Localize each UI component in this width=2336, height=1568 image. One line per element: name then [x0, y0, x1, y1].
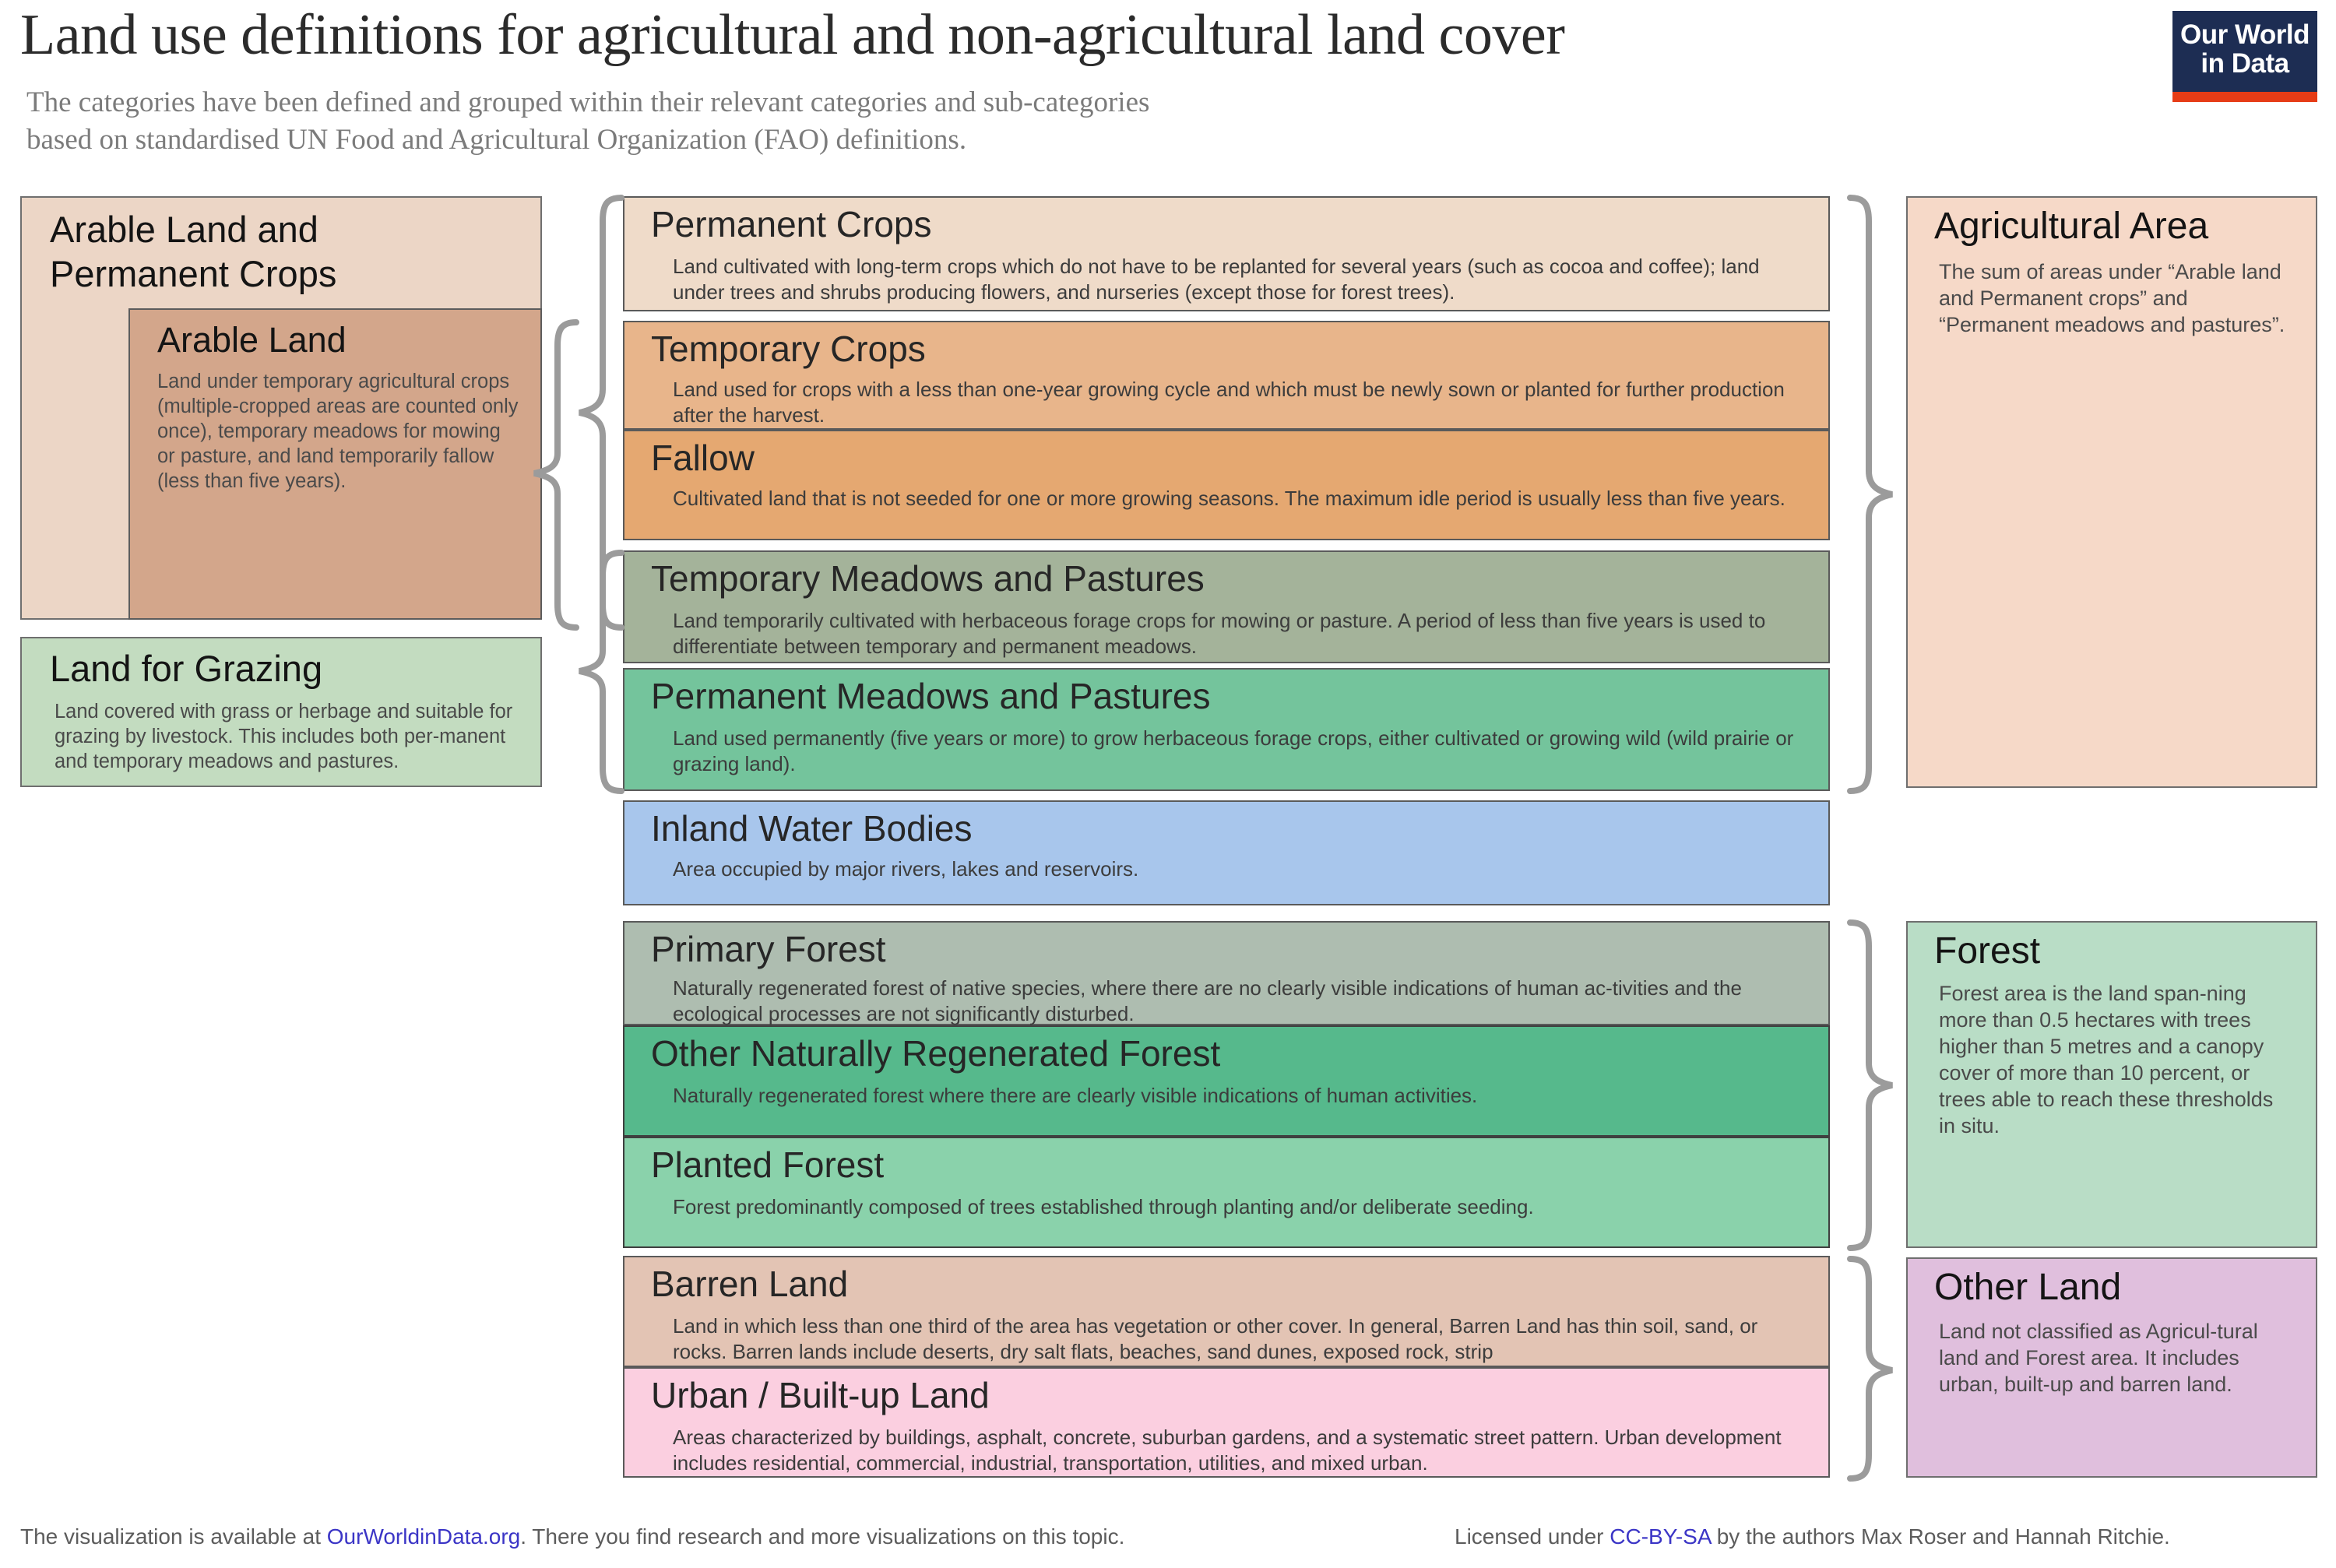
box-desc-temporary-meadows-and-pastures: Land temporarily cultivated with herbace… [673, 608, 1810, 659]
our-world-in-data-logo[interactable]: Our World in Data [2172, 11, 2317, 92]
box-other-land: Other Land Land not classified as Agricu… [1906, 1257, 2317, 1478]
page-title: Land use definitions for agricultural an… [20, 2, 1564, 69]
owid-link[interactable]: OurWorldinData.org [327, 1524, 520, 1549]
logo-line-2: in Data [2172, 49, 2317, 78]
box-title-fallow: Fallow [651, 436, 755, 480]
page-subtitle: The categories have been defined and gro… [26, 84, 1149, 159]
logo-line-1: Our World [2172, 20, 2317, 49]
box-agricultural-area: Agricultural Area The sum of areas under… [1906, 196, 2317, 788]
box-planted-forest: Planted Forest Forest predominantly comp… [623, 1137, 1830, 1248]
box-desc-planted-forest: Forest predominantly composed of trees e… [673, 1194, 1810, 1220]
brace-land-for-grazing [576, 550, 624, 794]
box-title-temporary-meadows-and-pastures: Temporary Meadows and Pastures [651, 557, 1205, 600]
page-subtitle-line-2: based on standardised UN Food and Agricu… [26, 121, 1149, 159]
box-land-for-grazing: Land for Grazing Land covered with grass… [20, 637, 542, 787]
box-temporary-meadows-and-pastures: Temporary Meadows and Pastures Land temp… [623, 550, 1830, 663]
box-arable-land: Arable Land Land under temporary agricul… [128, 308, 542, 620]
box-desc-fallow: Cultivated land that is not seeded for o… [673, 486, 1810, 512]
brace-agricultural-area [1845, 195, 1897, 794]
box-desc-barren-land: Land in which less than one third of the… [673, 1313, 1810, 1365]
box-title-inland-water-bodies: Inland Water Bodies [651, 807, 973, 850]
box-title-temporary-crops: Temporary Crops [651, 327, 926, 371]
box-desc-agricultural-area: The sum of areas under “Arable land and … [1939, 258, 2293, 338]
footer-right-post: by the authors Max Roser and Hannah Ritc… [1711, 1524, 2170, 1549]
box-title-other-naturally-regenerated-forest: Other Naturally Regenerated Forest [651, 1032, 1220, 1075]
logo-text: Our World in Data [2172, 11, 2317, 78]
box-title-urban-built-up-land: Urban / Built-up Land [651, 1373, 990, 1417]
box-desc-inland-water-bodies: Area occupied by major rivers, lakes and… [673, 856, 1810, 882]
box-other-naturally-regenerated-forest: Other Naturally Regenerated Forest Natur… [623, 1025, 1830, 1137]
footer-right: Licensed under CC-BY-SA by the authors M… [1455, 1522, 2170, 1552]
box-title-permanent-crops: Permanent Crops [651, 202, 932, 246]
box-desc-urban-built-up-land: Areas characterized by buildings, asphal… [673, 1425, 1810, 1476]
box-desc-land-for-grazing: Land covered with grass or herbage and s… [55, 699, 522, 774]
footer-left: The visualization is available at OurWor… [20, 1522, 1124, 1552]
box-desc-temporary-crops: Land used for crops with a less than one… [673, 377, 1810, 428]
footer-left-post: . There you find research and more visua… [520, 1524, 1124, 1549]
page-footer: The visualization is available at OurWor… [0, 1522, 2336, 1568]
box-fallow: Fallow Cultivated land that is not seede… [623, 430, 1830, 540]
box-title-arable-land: Arable Land [157, 321, 347, 360]
brace-arable-land [531, 319, 579, 631]
box-title-barren-land: Barren Land [651, 1262, 848, 1306]
box-title-arable-and-permanent-crops: Arable Land and Permanent Crops [50, 207, 517, 296]
box-primary-forest: Primary Forest Naturally regenerated for… [623, 921, 1830, 1025]
box-desc-arable-land: Land under temporary agricultural crops … [157, 369, 523, 494]
box-desc-other-naturally-regenerated-forest: Naturally regenerated forest where there… [673, 1083, 1810, 1109]
box-permanent-crops: Permanent Crops Land cultivated with lon… [623, 196, 1830, 311]
box-title-permanent-meadows-and-pastures: Permanent Meadows and Pastures [651, 674, 1211, 718]
box-inland-water-bodies: Inland Water Bodies Area occupied by maj… [623, 800, 1830, 905]
box-title-planted-forest: Planted Forest [651, 1143, 884, 1187]
brace-other-land [1845, 1256, 1897, 1482]
box-title-forest: Forest [1934, 929, 2040, 974]
box-desc-permanent-meadows-and-pastures: Land used permanently (five years or mor… [673, 726, 1810, 777]
box-title-land-for-grazing: Land for Grazing [50, 648, 322, 690]
box-desc-primary-forest: Naturally regenerated forest of native s… [673, 976, 1810, 1027]
box-temporary-crops: Temporary Crops Land used for crops with… [623, 321, 1830, 430]
box-desc-permanent-crops: Land cultivated with long-term crops whi… [673, 254, 1810, 305]
box-barren-land: Barren Land Land in which less than one … [623, 1256, 1830, 1367]
box-title-other-land: Other Land [1934, 1265, 2121, 1310]
box-permanent-meadows-and-pastures: Permanent Meadows and Pastures Land used… [623, 668, 1830, 791]
box-title-primary-forest: Primary Forest [651, 927, 886, 971]
brace-forest [1845, 919, 1897, 1251]
footer-right-pre: Licensed under [1455, 1524, 1610, 1549]
license-link[interactable]: CC-BY-SA [1610, 1524, 1711, 1549]
page-header: Land use definitions for agricultural an… [0, 0, 2336, 179]
footer-left-pre: The visualization is available at [20, 1524, 327, 1549]
box-urban-built-up-land: Urban / Built-up Land Areas characterize… [623, 1367, 1830, 1478]
logo-accent-bar [2172, 92, 2317, 102]
box-forest: Forest Forest area is the land span-ning… [1906, 921, 2317, 1248]
box-desc-forest: Forest area is the land span-ning more t… [1939, 980, 2293, 1139]
page-subtitle-line-1: The categories have been defined and gro… [26, 84, 1149, 121]
box-title-agricultural-area: Agricultural Area [1934, 204, 2208, 249]
box-desc-other-land: Land not classified as Agricul-tural lan… [1939, 1318, 2293, 1397]
